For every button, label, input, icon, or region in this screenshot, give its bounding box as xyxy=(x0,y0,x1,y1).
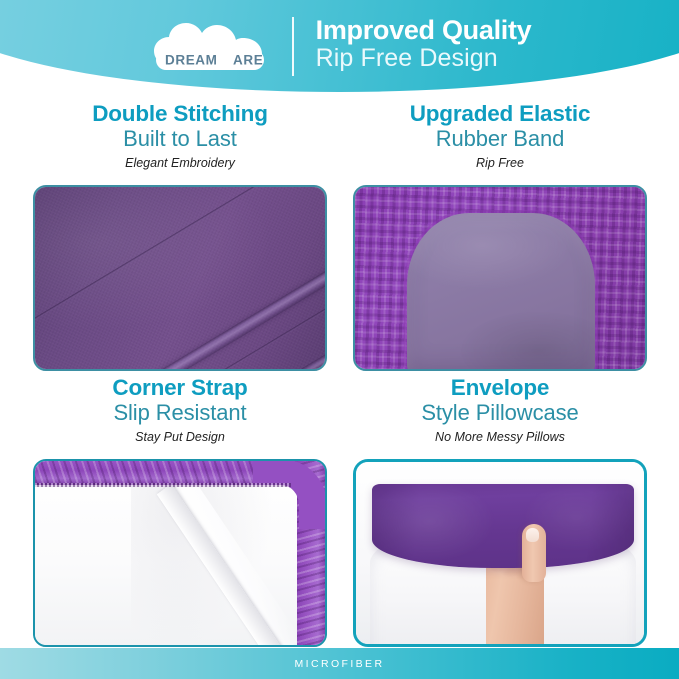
feature-photo-double-stitching xyxy=(33,185,327,371)
header-text-block: Improved Quality Rip Free Design xyxy=(316,16,532,72)
feature-photo-corner-strap xyxy=(33,459,327,647)
header-subtitle: Rip Free Design xyxy=(316,44,532,72)
fabric-texture-overlay xyxy=(35,187,325,369)
sheet-hem-stitching xyxy=(35,483,291,487)
logo-word-dream: DREAM xyxy=(165,53,218,68)
sheet-center-panel xyxy=(407,213,595,369)
feature-card-corner-strap: Corner Strap Slip Resistant Stay Put Des… xyxy=(20,375,340,647)
feature-note: Elegant Embroidery xyxy=(26,154,334,173)
logo-word-care: ARE xyxy=(233,53,263,68)
feature-card-upgraded-elastic: Upgraded Elastic Rubber Band Rip Free xyxy=(340,101,660,371)
feature-subtitle: Slip Resistant xyxy=(26,400,334,425)
header-title: Improved Quality xyxy=(316,16,532,44)
feature-titles: Double Stitching Built to Last Elegant E… xyxy=(20,101,340,179)
feature-subtitle: Style Pillowcase xyxy=(346,400,654,425)
feature-titles: Corner Strap Slip Resistant Stay Put Des… xyxy=(20,375,340,453)
feature-card-double-stitching: Double Stitching Built to Last Elegant E… xyxy=(20,101,340,371)
feature-note: No More Messy Pillows xyxy=(346,428,654,447)
feature-subtitle: Rubber Band xyxy=(346,126,654,151)
feature-subtitle: Built to Last xyxy=(26,126,334,151)
feature-note: Rip Free xyxy=(346,154,654,173)
feature-title: Upgraded Elastic xyxy=(346,101,654,126)
cloud-logo-icon: DREAM ARE xyxy=(148,17,276,75)
thumb-nail xyxy=(526,528,539,542)
feature-titles: Upgraded Elastic Rubber Band Rip Free xyxy=(340,101,660,179)
feature-photo-envelope-pillowcase xyxy=(353,459,647,647)
feature-note: Stay Put Design xyxy=(26,428,334,447)
page-header: DREAM ARE Improved Quality Rip Free Desi… xyxy=(0,0,679,92)
header-divider xyxy=(292,17,294,76)
footer-material-label: MICROFIBER xyxy=(295,658,385,670)
feature-titles: Envelope Style Pillowcase No More Messy … xyxy=(340,375,660,453)
brand-logo: DREAM ARE xyxy=(148,17,276,75)
feature-card-envelope-pillowcase: Envelope Style Pillowcase No More Messy … xyxy=(340,375,660,647)
feature-title: Envelope xyxy=(346,375,654,400)
feature-title: Double Stitching xyxy=(26,101,334,126)
page-footer: MICROFIBER xyxy=(0,648,679,679)
purple-envelope-flap xyxy=(372,484,634,568)
feature-title: Corner Strap xyxy=(26,375,334,400)
feature-grid: Double Stitching Built to Last Elegant E… xyxy=(0,92,679,648)
feature-photo-upgraded-elastic xyxy=(353,185,647,371)
